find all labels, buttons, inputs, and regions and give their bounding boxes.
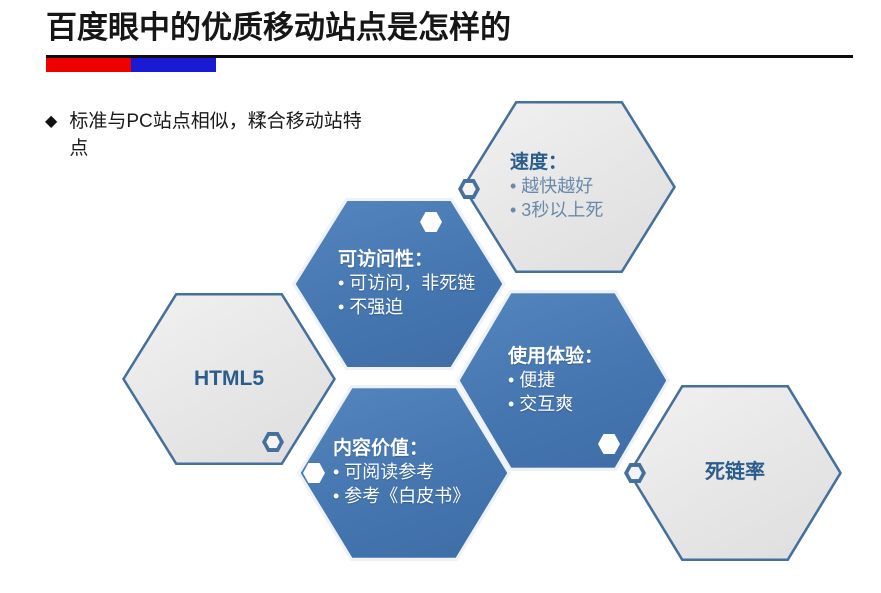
hex-line: • 参考《白皮书》: [333, 485, 511, 509]
hex-line: • 越快越好: [510, 175, 676, 199]
hexagon-diagram: HTML5 可访问性： • 可访问，非死链 • 不强迫 速度： • 越快越好 •…: [0, 0, 881, 593]
hex-heading: 内容价值：: [333, 437, 511, 461]
hex-line: • 可阅读参考: [333, 461, 511, 485]
hex-heading: HTML5: [194, 366, 264, 393]
hex-content: 内容价值： • 可阅读参考 • 参考《白皮书》: [297, 385, 511, 561]
hex-node-speed[interactable]: 速度： • 越快越好 • 3秒以上死: [462, 101, 676, 273]
hex-content: 速度： • 越快越好 • 3秒以上死: [462, 101, 676, 273]
hex-heading: 使用体验：: [508, 345, 670, 369]
hex-heading: 死链率: [705, 460, 765, 486]
hex-line: • 3秒以上死: [510, 199, 676, 223]
hex-content: 死链率: [628, 385, 842, 561]
hex-node-dead-link-rate[interactable]: 死链率: [628, 385, 842, 561]
hex-heading: 速度：: [510, 151, 676, 175]
hex-node-content-value[interactable]: 内容价值： • 可阅读参考 • 参考《白皮书》: [297, 385, 511, 561]
